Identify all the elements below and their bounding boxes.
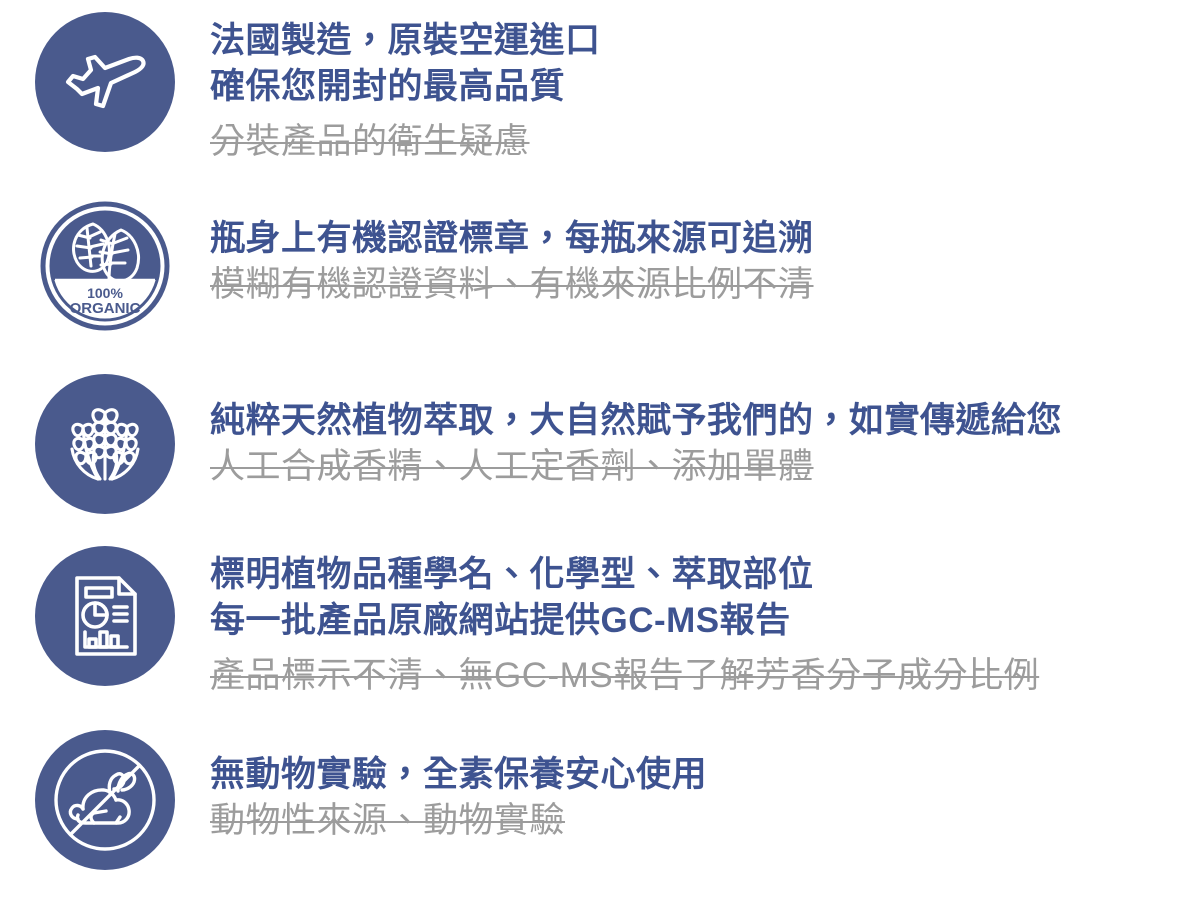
feature-con-line: 人工合成香精、人工定香劑、添加單體 (210, 444, 1200, 490)
feature-row: 純粹天然植物萃取，大自然賦予我們的，如實傳遞給您 人工合成香精、人工定香劑、添加… (0, 374, 1200, 514)
feature-pro-line: 法國製造，原裝空運進口 (210, 18, 1200, 64)
icon-cell (0, 546, 210, 686)
feature-text: 純粹天然植物萃取，大自然賦予我們的，如實傳遞給您 人工合成香精、人工定香劑、添加… (210, 374, 1200, 489)
feature-pro-line: 確保您開封的最高品質 (210, 64, 1200, 110)
feature-text: 法國製造，原裝空運進口 確保您開封的最高品質 分裝產品的衛生疑慮 (210, 12, 1200, 165)
spacer (210, 643, 1200, 653)
report-document-icon (35, 546, 175, 686)
feature-pro-line: 瓶身上有機認證標章，每瓶來源可追溯 (210, 216, 1200, 262)
feature-con-line: 分裝產品的衛生疑慮 (210, 119, 1200, 165)
feature-row: 無動物實驗，全素保養安心使用 動物性來源、動物實驗 (0, 730, 1200, 870)
feature-con-line: 動物性來源、動物實驗 (210, 798, 1200, 844)
feature-pro-line: 純粹天然植物萃取，大自然賦予我們的，如實傳遞給您 (210, 398, 1200, 444)
feature-pro-line: 標明植物品種學名、化學型、萃取部位 (210, 552, 1200, 598)
icon-cell (0, 12, 210, 152)
feature-text: 瓶身上有機認證標章，每瓶來源可追溯 模糊有機認證資料、有機來源比例不清 (210, 196, 1200, 307)
feature-pro-line: 無動物實驗，全素保養安心使用 (210, 752, 1200, 798)
lavender-plants-icon (35, 374, 175, 514)
feature-con-line: 產品標示不清、無GC-MS報告了解芳香分子成分比例 (210, 653, 1200, 699)
organic-label-text: ORGANIC (70, 300, 141, 317)
icon-cell: 100% ORGANIC (0, 196, 210, 336)
no-animal-testing-icon (35, 730, 175, 870)
feature-row: 法國製造，原裝空運進口 確保您開封的最高品質 分裝產品的衛生疑慮 (0, 12, 1200, 165)
feature-text: 標明植物品種學名、化學型、萃取部位 每一批產品原廠網站提供GC-MS報告 產品標… (210, 546, 1200, 699)
feature-row: 標明植物品種學名、化學型、萃取部位 每一批產品原廠網站提供GC-MS報告 產品標… (0, 546, 1200, 699)
organic-percent-text: 100% (87, 285, 123, 301)
feature-pro-line: 每一批產品原廠網站提供GC-MS報告 (210, 598, 1200, 644)
feature-list: 法國製造，原裝空運進口 確保您開封的最高品質 分裝產品的衛生疑慮 (0, 0, 1200, 898)
feature-con-line: 模糊有機認證資料、有機來源比例不清 (210, 262, 1200, 308)
organic-badge-icon: 100% ORGANIC (35, 196, 175, 336)
icon-cell (0, 374, 210, 514)
icon-cell (0, 730, 210, 870)
feature-text: 無動物實驗，全素保養安心使用 動物性來源、動物實驗 (210, 730, 1200, 843)
airplane-icon (35, 12, 175, 152)
feature-row: 100% ORGANIC 瓶身上有機認證標章，每瓶來源可追溯 模糊有機認證資料、… (0, 196, 1200, 336)
spacer (210, 109, 1200, 119)
